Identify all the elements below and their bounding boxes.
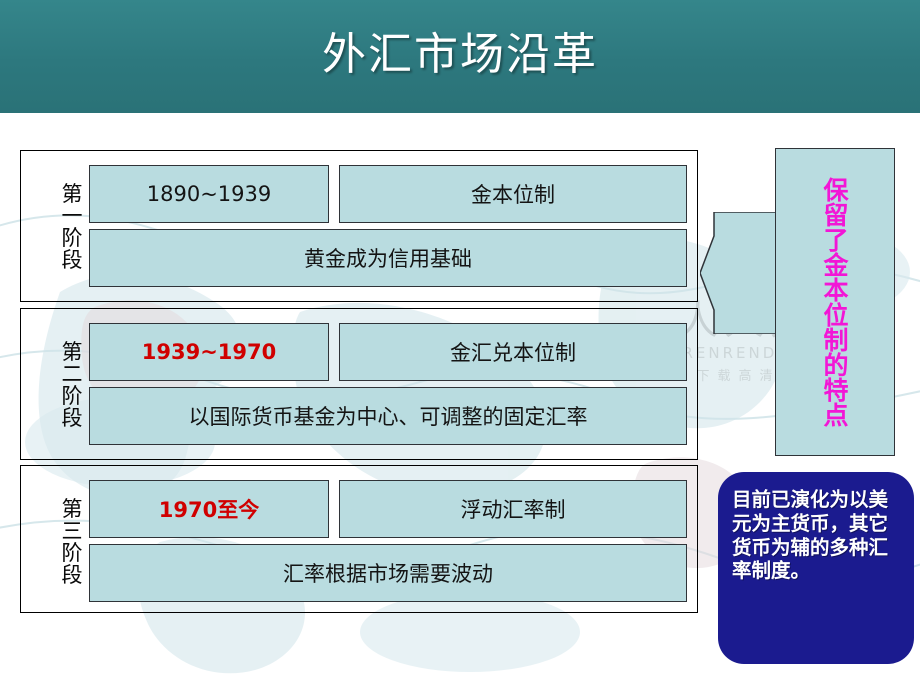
- stage-row-3: 第 三 阶 段 1970至今 浮动汇率制 汇率根据市场需要波动: [20, 465, 698, 613]
- stage-2-label-char-3: 阶: [62, 385, 83, 407]
- feature-char-3: 了: [823, 228, 848, 253]
- feature-char-5: 本: [823, 278, 848, 303]
- slide-header-band: 外汇市场沿革: [0, 0, 920, 113]
- stage-row-1: 第 一 阶 段 1890~1939 金本位制 黄金成为信用基础: [20, 150, 698, 302]
- page-title: 外汇市场沿革: [0, 18, 920, 82]
- feature-char-8: 的: [823, 353, 848, 378]
- stage-row-2: 第 二 阶 段 1939~1970 金汇兑本位制 以国际货币基金为中心、可调整的…: [20, 308, 698, 460]
- stage-2-period: 1939~1970: [89, 323, 329, 381]
- feature-char-1: 保: [823, 178, 848, 203]
- stage-1-label-char-4: 段: [62, 249, 83, 271]
- stage-2-label-char-4: 段: [62, 407, 83, 429]
- stage-2-description: 以国际货币基金为中心、可调整的固定汇率: [89, 387, 687, 445]
- slide-canvas: 人人文库 RENRENDOC.COM 下载高清无水印 外汇市场沿革 第 一 阶 …: [0, 0, 920, 690]
- summary-callout-box: 目前已演化为以美元为主货币，其它货币为辅的多种汇率制度。: [718, 472, 914, 664]
- stage-2-system-name: 金汇兑本位制: [339, 323, 687, 381]
- feature-char-9: 特: [823, 378, 848, 403]
- stage-2-label-char-1: 第: [62, 341, 83, 363]
- feature-char-7: 制: [823, 328, 848, 353]
- stage-1-period: 1890~1939: [89, 165, 329, 223]
- stage-3-label-char-1: 第: [62, 498, 83, 520]
- feature-panel-text: 保 留 了 金 本 位 制 的 特 点: [776, 157, 896, 449]
- stage-1-label-char-2: 一: [62, 205, 83, 227]
- stage-3-label-char-4: 段: [62, 564, 83, 586]
- stage-2-label-char-2: 二: [62, 363, 83, 385]
- feature-char-4: 金: [823, 253, 848, 278]
- feature-char-10: 点: [823, 403, 848, 428]
- stage-1-label-char-1: 第: [62, 183, 83, 205]
- feature-panel: 保 留 了 金 本 位 制 的 特 点: [775, 148, 895, 456]
- feature-char-2: 留: [823, 203, 848, 228]
- left-arrow-connector: [700, 212, 784, 334]
- stage-3-label-char-3: 阶: [62, 542, 83, 564]
- stage-3-label-char-2: 三: [62, 520, 83, 542]
- stage-3-period: 1970至今: [89, 480, 329, 538]
- feature-char-6: 位: [823, 303, 848, 328]
- arrow-shape: [700, 212, 784, 334]
- stage-1-description: 黄金成为信用基础: [89, 229, 687, 287]
- stage-3-system-name: 浮动汇率制: [339, 480, 687, 538]
- stage-1-system-name: 金本位制: [339, 165, 687, 223]
- stage-1-label-char-3: 阶: [62, 227, 83, 249]
- stage-3-description: 汇率根据市场需要波动: [89, 544, 687, 602]
- summary-callout-text: 目前已演化为以美元为主货币，其它货币为辅的多种汇率制度。: [732, 488, 902, 583]
